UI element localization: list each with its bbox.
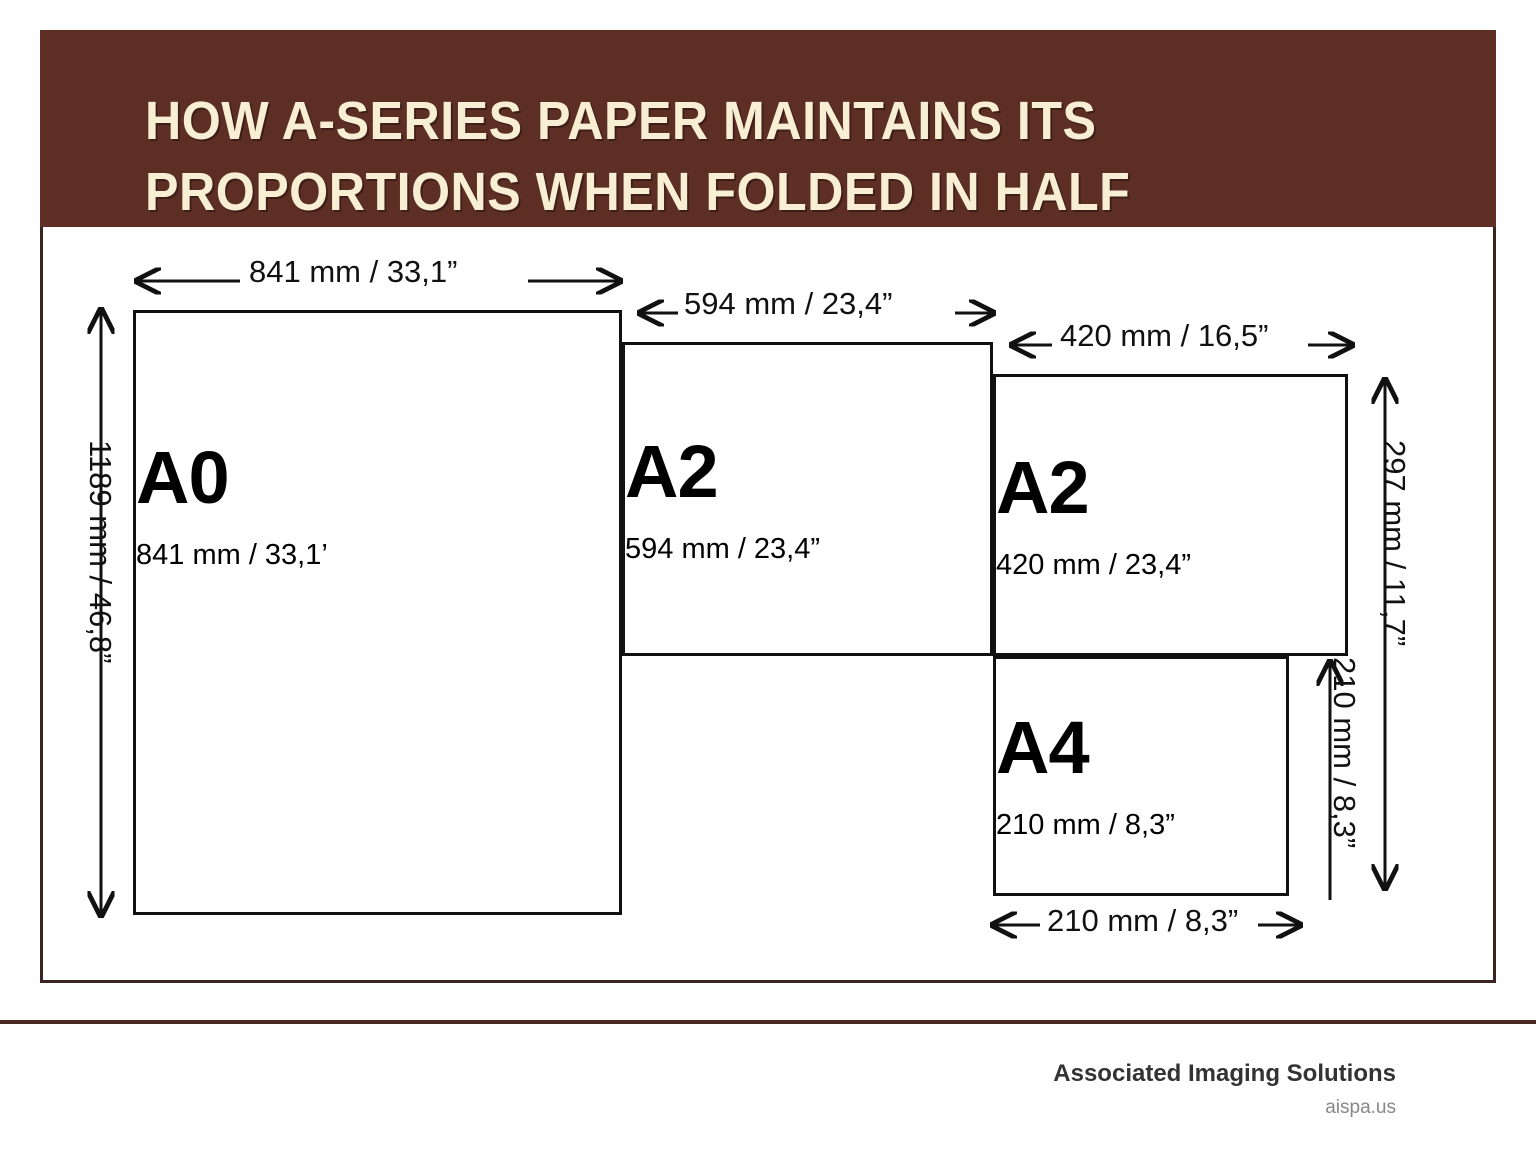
- label-height-a4: 210 mm / 8,3”: [1326, 657, 1362, 848]
- sheet-a0[interactable]: A0 841 mm / 33,1’: [133, 310, 622, 915]
- sheet-a2-middle-dimension: 594 mm / 23,4”: [625, 535, 996, 564]
- sheet-a2-right-labels: A2 420 mm / 23,4”: [996, 451, 1351, 580]
- sheet-a2-middle[interactable]: A2 594 mm / 23,4”: [622, 342, 993, 656]
- brand-url[interactable]: aispa.us: [1325, 1097, 1396, 1119]
- sheet-a2-right[interactable]: A2 420 mm / 23,4”: [993, 374, 1348, 656]
- sheet-a2-right-name: A2: [996, 451, 1351, 525]
- sheet-a0-dimension: 841 mm / 33,1’: [136, 541, 625, 570]
- label-height-a2-right: 297 mm / 11,7”: [1376, 440, 1412, 646]
- sheet-a4-labels: A4 210 mm / 8,3”: [996, 711, 1292, 840]
- page-title: HOW A-SERIES PAPER MAINTAINS ITS PROPORT…: [145, 86, 1345, 229]
- sheet-a2-middle-labels: A2 594 mm / 23,4”: [625, 435, 996, 564]
- infographic-poster: HOW A-SERIES PAPER MAINTAINS ITS PROPORT…: [0, 0, 1536, 1154]
- label-width-a2-middle: 594 mm / 23,4”: [684, 286, 892, 322]
- label-width-a0: 841 mm / 33,1”: [249, 254, 457, 290]
- label-height-a0: 1189 mm / 46,8”: [82, 440, 118, 663]
- footer-divider: [0, 1020, 1536, 1024]
- sheet-a4-name: A4: [996, 711, 1292, 785]
- sheet-a4-dimension: 210 mm / 8,3”: [996, 811, 1292, 840]
- sheet-a2-right-dimension: 420 mm / 23,4”: [996, 551, 1351, 580]
- label-width-a4: 210 mm / 8,3”: [1047, 903, 1238, 939]
- sheet-a0-name: A0: [136, 441, 625, 515]
- brand-name: Associated Imaging Solutions: [1053, 1060, 1396, 1088]
- header-banner: HOW A-SERIES PAPER MAINTAINS ITS PROPORT…: [40, 30, 1496, 227]
- sheet-a0-labels: A0 841 mm / 33,1’: [136, 441, 625, 570]
- sheet-a2-middle-name: A2: [625, 435, 996, 509]
- label-width-a2-right: 420 mm / 16,5”: [1060, 318, 1268, 354]
- sheet-a4[interactable]: A4 210 mm / 8,3”: [993, 656, 1289, 896]
